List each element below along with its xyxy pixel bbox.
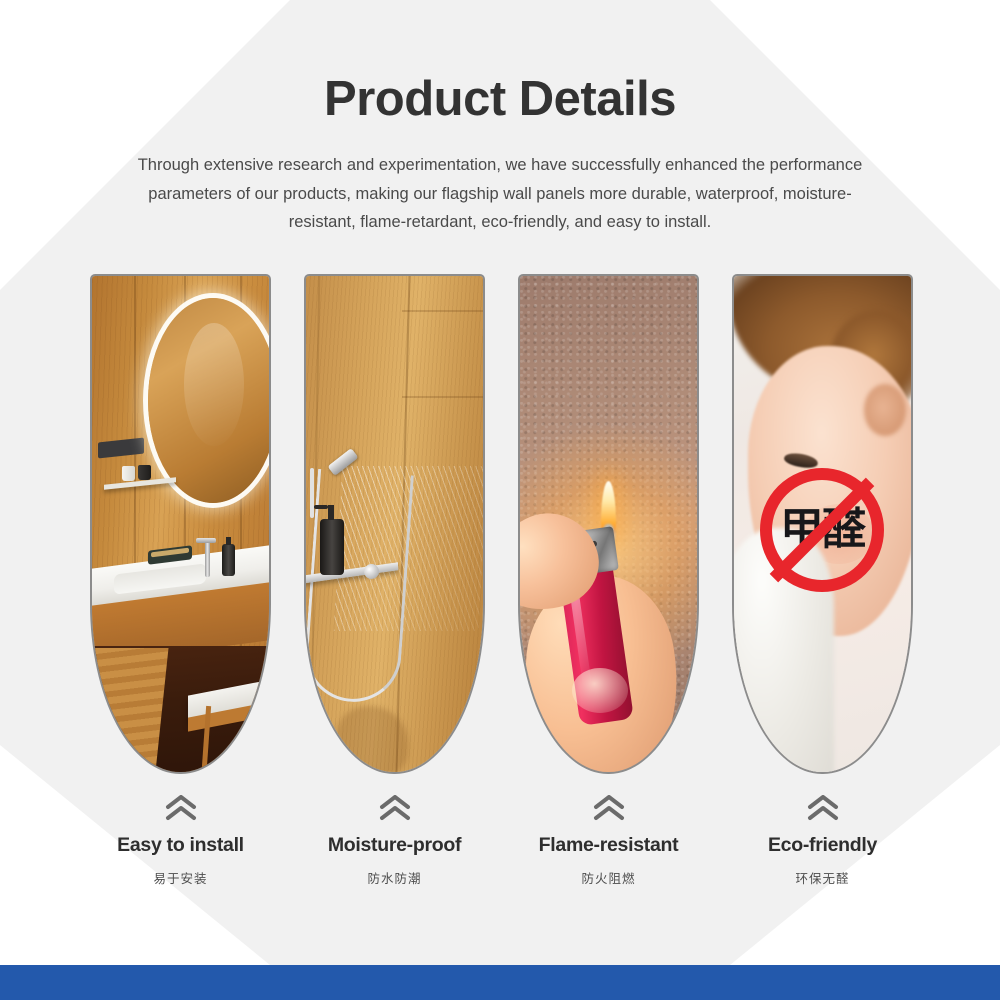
wood-floor-strip	[92, 648, 169, 772]
chevron-double-up-icon	[732, 795, 913, 821]
header: Product Details Through extensive resear…	[0, 0, 1000, 237]
feature-image-flame-resistant[interactable]	[518, 274, 699, 774]
bottom-accent-bar	[0, 965, 1000, 1000]
cup	[122, 466, 135, 481]
panel-seam	[402, 310, 483, 312]
chevron-double-up-icon	[304, 795, 485, 821]
feature-card-flame-resistant[interactable]: Flame-resistant 防火阻燃	[518, 274, 699, 887]
no-formaldehyde-icon: 甲醛	[760, 468, 884, 592]
shampoo-bottle	[320, 519, 344, 575]
feature-label-cn: 易于安装	[90, 868, 271, 887]
feature-card-easy-to-install[interactable]: Easy to install 易于安装	[90, 274, 271, 887]
feature-card-moisture-proof[interactable]: Moisture-proof 防水防潮	[304, 274, 485, 887]
product-details-page: Product Details Through extensive resear…	[0, 0, 1000, 1000]
shower-hose-upper	[310, 468, 314, 518]
feature-label-cn: 防水防潮	[304, 868, 485, 887]
cup	[138, 465, 151, 480]
feature-label-en: Eco-friendly	[732, 834, 913, 857]
baby-ear	[864, 384, 906, 436]
feature-caption-easy-to-install: Easy to install 易于安装	[90, 795, 271, 887]
feature-image-easy-to-install[interactable]	[90, 274, 271, 774]
feature-card-row: Easy to install 易于安装	[90, 274, 910, 887]
faucet	[205, 541, 210, 577]
feature-label-en: Moisture-proof	[304, 834, 485, 857]
feature-label-en: Flame-resistant	[518, 834, 699, 857]
feature-caption-moisture-proof: Moisture-proof 防水防潮	[304, 795, 485, 887]
feature-label-cn: 防火阻燃	[518, 868, 699, 887]
feature-card-eco-friendly[interactable]: 甲醛 Eco-friendly 环保无醛	[732, 274, 913, 887]
feature-image-eco-friendly[interactable]: 甲醛	[732, 274, 913, 774]
soap-dispenser	[222, 544, 235, 576]
feature-label-cn: 环保无醛	[732, 868, 913, 887]
led-oval-mirror	[148, 298, 269, 503]
feature-caption-eco-friendly: Eco-friendly 环保无醛	[732, 795, 913, 887]
chevron-double-up-icon	[90, 795, 271, 821]
page-subtitle: Through extensive research and experimen…	[120, 151, 880, 236]
hose-connector	[364, 564, 379, 579]
chevron-double-up-icon	[518, 795, 699, 821]
finger-highlight	[572, 668, 628, 713]
page-title: Product Details	[0, 74, 1000, 125]
feature-image-moisture-proof[interactable]	[304, 274, 485, 774]
feature-label-en: Easy to install	[90, 834, 271, 857]
panel-seam	[402, 396, 483, 398]
feature-caption-flame-resistant: Flame-resistant 防火阻燃	[518, 795, 699, 887]
